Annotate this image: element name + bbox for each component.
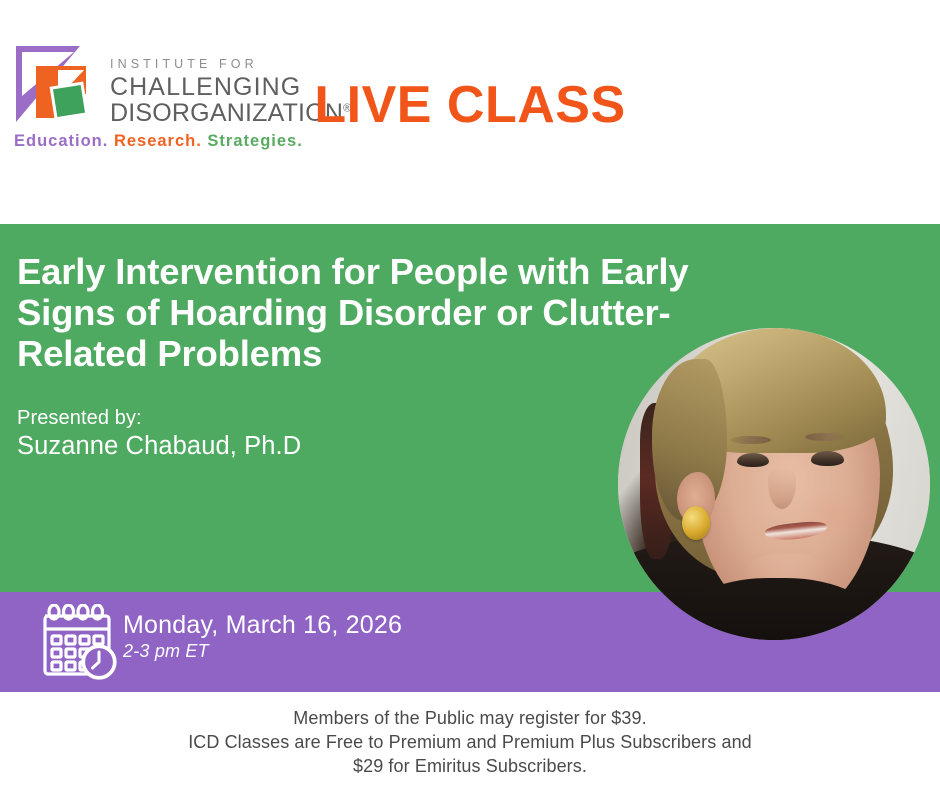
presenter-name: Suzanne Chabaud, Ph.D <box>17 430 301 463</box>
avatar-eye-right <box>811 451 844 465</box>
tagline-research: Research. <box>114 132 202 150</box>
logo-line-institute: INSTITUTE FOR <box>110 58 306 71</box>
pricing-line-2: ICD Classes are Free to Premium and Prem… <box>0 731 940 755</box>
live-class-promo-poster: INSTITUTE FOR CHALLENGING DISORGANIZATIO… <box>0 0 940 788</box>
tagline-education: Education. <box>14 132 108 150</box>
presenter-avatar <box>618 328 930 640</box>
pricing-line-1: Members of the Public may register for $… <box>0 707 940 731</box>
avatar-eyebrow-right <box>805 433 846 441</box>
pricing-line-3: $29 for Emiritus Subscribers. <box>0 755 940 779</box>
tagline-strategies: Strategies. <box>207 132 302 150</box>
poster-header: INSTITUTE FOR CHALLENGING DISORGANIZATIO… <box>0 0 940 224</box>
live-class-banner-title: LIVE CLASS <box>0 79 940 131</box>
logo-tagline: Education. Research. Strategies. <box>14 132 303 151</box>
poster-footer: Members of the Public may register for $… <box>0 692 940 788</box>
avatar-eyebrow-left <box>730 436 771 444</box>
avatar-earring <box>682 506 710 540</box>
class-date: Monday, March 16, 2026 <box>123 609 402 641</box>
pricing-note: Members of the Public may register for $… <box>0 707 940 779</box>
avatar-eye-left <box>737 453 770 467</box>
class-time: 2-3 pm ET <box>123 641 209 662</box>
calendar-clock-icon <box>37 604 119 680</box>
presented-by-label: Presented by: <box>17 404 142 433</box>
